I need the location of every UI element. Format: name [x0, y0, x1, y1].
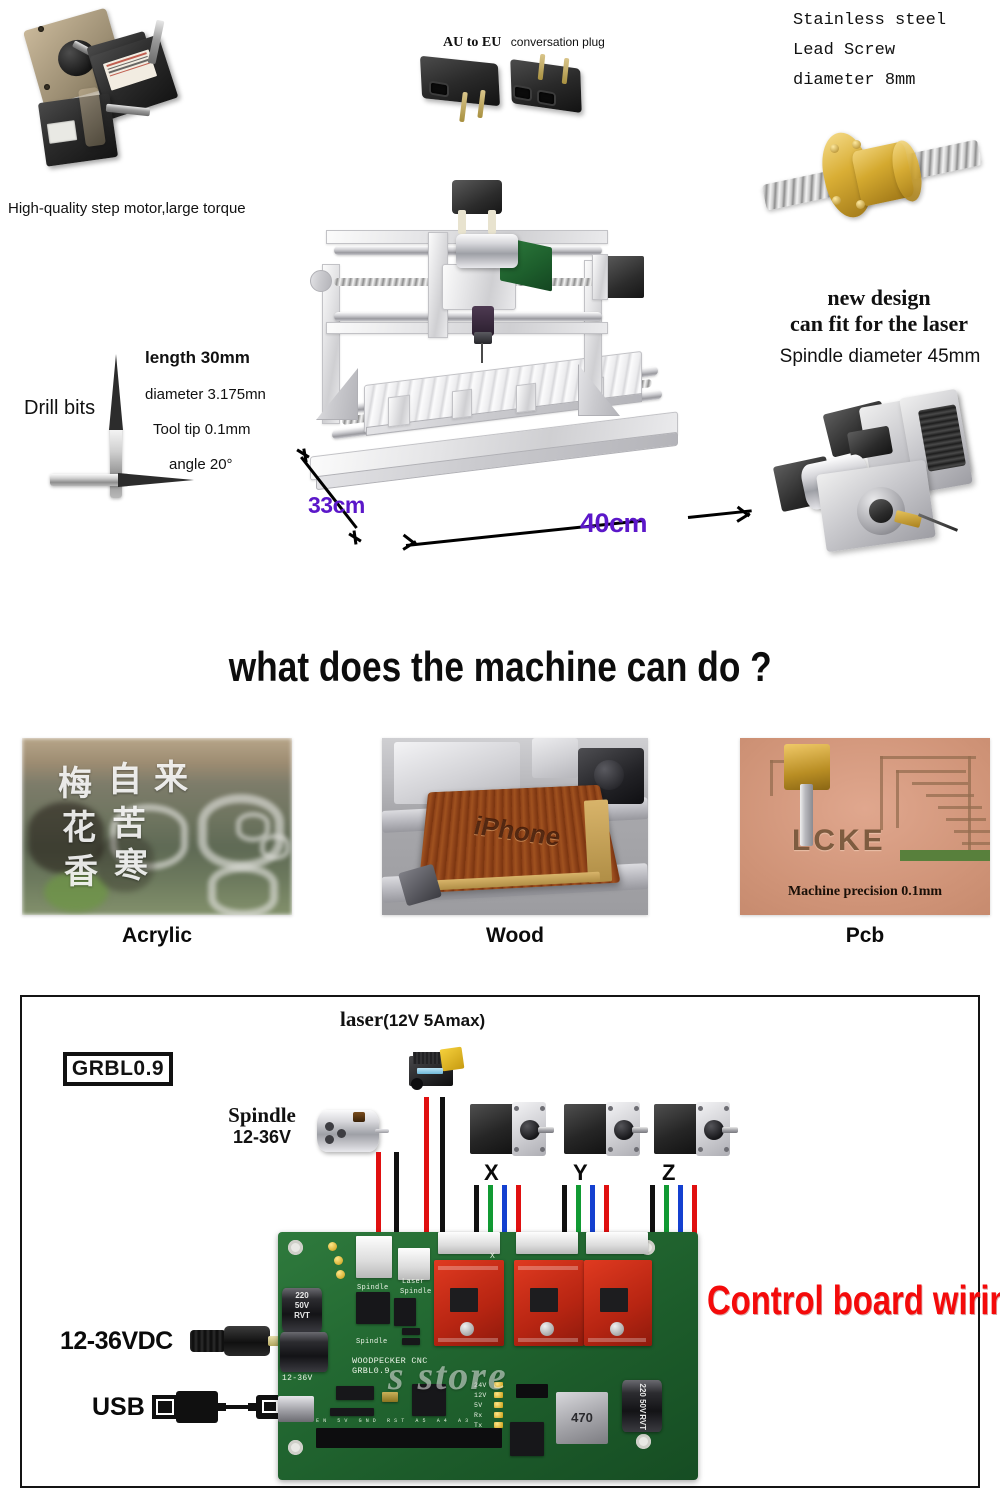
spindle-terminal: [356, 1236, 392, 1278]
motor-connector-z: [586, 1232, 648, 1254]
smd-component: [402, 1328, 420, 1335]
lead-screw-line-2: Lead Screw: [793, 36, 946, 66]
wire-z-red: [692, 1185, 697, 1236]
acrylic-char-6: 寒: [114, 838, 148, 887]
plug-caption: AU to EU conversation plug: [443, 33, 605, 51]
silk-spindle-port: Spindle: [357, 1284, 389, 1292]
cap-value-line-1: 220: [282, 1292, 322, 1300]
silk-laser-port: Laser: [402, 1278, 425, 1286]
drill-specs: length 30mm diameter 3.175mn Tool tip 0.…: [145, 348, 266, 473]
pin-label-5v: 5V: [474, 1402, 482, 1409]
silk-brand-line-2: GRBL0.9: [352, 1366, 390, 1376]
stepper-motor-z: [654, 1102, 736, 1158]
step-motor-photo: [10, 10, 230, 190]
spindle-voltage-label: 12-36V: [207, 1126, 317, 1148]
stepper-driver-y: [514, 1260, 584, 1346]
spindle-label-group: Spindle 12-36V: [207, 1104, 317, 1148]
wire-spindle-red: [376, 1152, 381, 1236]
wire-laser-red: [424, 1097, 429, 1236]
power-inductor: 470: [556, 1392, 608, 1444]
sample-card-acrylic: 梅 花 香 自 苦 寒 来 Acrylic: [22, 738, 292, 953]
silk-power-port: 12-36V: [282, 1374, 313, 1383]
sample-caption-wood: Wood: [382, 924, 648, 948]
status-led: [328, 1242, 337, 1251]
cap-value-right-3: RVT: [638, 1402, 646, 1442]
wood-photo: iPhone: [382, 738, 648, 915]
sample-caption-pcb: Pcb: [740, 924, 990, 948]
io-pin-header-silk: EN 5V GND RST A5 A4 A3: [316, 1418, 502, 1428]
spindle-motor-icon: [317, 1102, 385, 1158]
wire-z-green: [664, 1185, 669, 1236]
wire-y-red: [604, 1185, 609, 1236]
wire-spindle-black: [394, 1152, 399, 1236]
new-design-line-2: can fit for the laser: [758, 311, 1000, 337]
dimension-depth-label: 33cm: [308, 492, 365, 519]
power-input-label: 12-36VDC: [60, 1327, 173, 1356]
silk-spindle-label-3: Spindle: [356, 1338, 388, 1346]
headline-text: what does the machine can do ?: [228, 643, 771, 691]
section-headline: what does the machine can do ?: [0, 643, 1000, 691]
stepper-motor-x: [470, 1102, 552, 1158]
mcu-chip: [412, 1384, 446, 1416]
capacitor-220uf-right: 220 50V RVT: [622, 1380, 662, 1432]
pin-label-12v: 12V: [474, 1392, 487, 1399]
acrylic-char-1: 梅: [58, 756, 92, 805]
lead-screw-line-3: diameter 8mm: [793, 66, 946, 96]
lead-screw-photo: [752, 110, 992, 230]
smd-component: [402, 1338, 420, 1345]
lead-screw-caption: Stainless steel Lead Screw diameter 8mm: [793, 6, 946, 96]
pcb-engraved-text: LCKE: [792, 824, 886, 858]
axis-label-y: Y: [573, 1160, 588, 1186]
pcb-overlay-text: Machine precision 0.1mm: [740, 884, 990, 900]
axis-label-z: Z: [662, 1160, 675, 1186]
silk-brand-line-1: WOODPECKER CNC: [352, 1356, 428, 1366]
sample-caption-acrylic: Acrylic: [22, 924, 292, 948]
wiring-title: Control board wiring: [707, 1277, 1000, 1324]
acrylic-char-2: 花: [62, 800, 96, 849]
pcb-photo: LCKE Machine precision 0.1mm: [740, 738, 990, 915]
motor-connector-x: [438, 1232, 500, 1254]
drill-spec-length: length 30mm: [145, 348, 266, 368]
crystal: [382, 1392, 398, 1402]
laser-terminal: [398, 1248, 430, 1280]
wire-z-black: [650, 1185, 655, 1236]
step-motor-caption: High-quality step motor,large torque: [8, 200, 246, 217]
laser-label-rest: (12V 5Amax): [383, 1011, 485, 1030]
plug-caption-rest: conversation plug: [511, 35, 605, 49]
drill-spec-diameter: diameter 3.175mn: [145, 386, 266, 403]
pin-label-24v: 24V: [474, 1382, 487, 1389]
wire-x-black: [474, 1185, 479, 1236]
wire-x-red: [516, 1185, 521, 1236]
silk-spindle-port-2: Spindle: [400, 1288, 432, 1296]
status-led: [334, 1256, 343, 1265]
usb-label: USB: [92, 1393, 145, 1422]
pin-header-right: [516, 1384, 548, 1398]
acrylic-photo: 梅 花 香 自 苦 寒 来: [22, 738, 292, 915]
plug-caption-bold: AU to EU: [443, 35, 501, 50]
spindle-label: Spindle: [207, 1104, 317, 1126]
sample-card-wood: iPhone Wood: [382, 738, 648, 953]
inductor-value: 470: [556, 1410, 608, 1425]
board-usb-port: [278, 1396, 314, 1422]
capacitor-black-left: [280, 1332, 328, 1372]
stepper-driver-x: [434, 1260, 504, 1346]
new-design-line-1: new design: [758, 285, 1000, 311]
drill-spec-angle: angle 20°: [169, 456, 266, 473]
spindle-diameter-caption: Spindle diameter 45mm: [760, 346, 1000, 368]
wire-y-black: [562, 1185, 567, 1236]
silk-axis-x: X: [490, 1252, 495, 1261]
sample-card-pcb: LCKE Machine precision 0.1mm Pcb: [740, 738, 990, 953]
lead-screw-line-1: Stainless steel: [793, 6, 946, 36]
wire-y-blue: [590, 1185, 595, 1236]
voltage-regulator: [394, 1298, 416, 1326]
motor-connector-y: [516, 1232, 578, 1254]
shift-register: [336, 1386, 374, 1400]
driver-ic: [510, 1422, 544, 1456]
cap-value-line-3: RVT: [282, 1312, 322, 1320]
capacitor-220uf-left: 220 50V RVT: [282, 1288, 322, 1332]
axis-label-x: X: [484, 1160, 499, 1186]
wire-y-green: [576, 1185, 581, 1236]
laser-module-icon: [407, 1042, 467, 1092]
mounting-hole: [288, 1440, 303, 1455]
laser-label: laser(12V 5Amax): [340, 1007, 485, 1032]
spindle-laser-module-photo: [765, 385, 1000, 570]
dimension-width-label: 40cm: [580, 508, 647, 539]
acrylic-char-7: 来: [154, 750, 188, 799]
acrylic-char-3: 香: [64, 844, 98, 893]
mosfet: [356, 1292, 390, 1324]
firmware-badge-text: GRBL0.9: [72, 1057, 164, 1081]
new-design-caption: new design can fit for the laser: [758, 285, 1000, 337]
control-board: 220 50V RVT 220 50V RVT Spindle Laser Sp…: [278, 1232, 698, 1480]
wire-x-blue: [502, 1185, 507, 1236]
drill-spec-tooltip: Tool tip 0.1mm: [153, 421, 266, 438]
plug-photo: [415, 50, 595, 125]
wire-z-blue: [678, 1185, 683, 1236]
io-pin-header: [316, 1428, 502, 1448]
wire-x-green: [488, 1185, 493, 1236]
stepper-driver-z: [584, 1260, 652, 1346]
wire-laser-black: [440, 1097, 445, 1236]
cap-value-line-2: 50V: [282, 1302, 322, 1310]
acrylic-char-4: 自: [108, 752, 142, 801]
status-led: [336, 1270, 345, 1279]
resistor-array: [330, 1408, 374, 1416]
firmware-badge: GRBL0.9: [63, 1052, 173, 1086]
stepper-motor-y: [564, 1102, 646, 1158]
mounting-hole: [288, 1240, 303, 1255]
top-product-collage: High-quality step motor,large torque AU …: [0, 0, 1000, 600]
dimension-width-arrow: [398, 498, 754, 556]
laser-label-bold: laser: [340, 1007, 383, 1031]
